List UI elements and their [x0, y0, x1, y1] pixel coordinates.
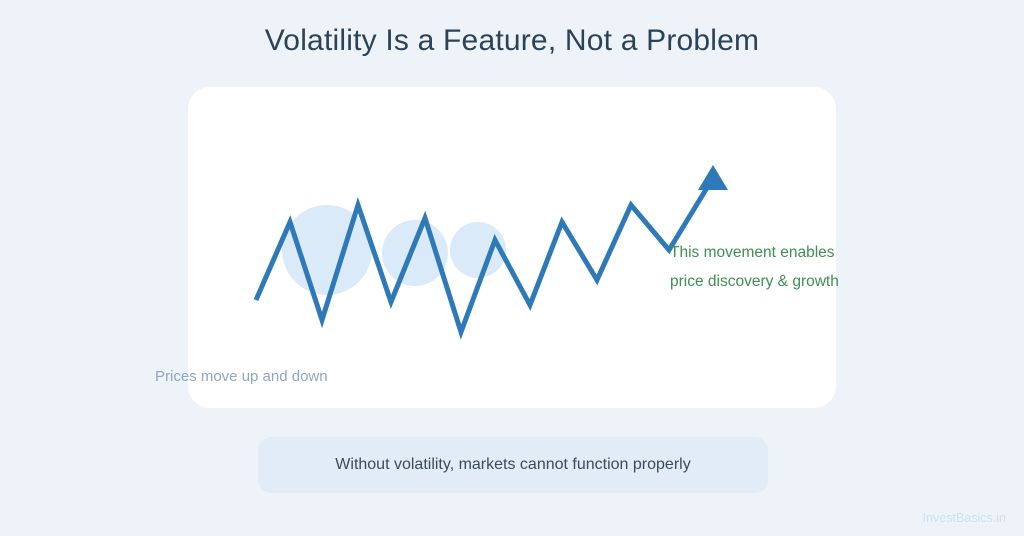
- footer-banner-text: Without volatility, markets cannot funct…: [335, 454, 690, 476]
- annotation-line-2: price discovery & growth: [670, 267, 839, 296]
- caption-prices-move: Prices move up and down: [155, 366, 328, 388]
- annotation-price-discovery: This movement enables price discovery & …: [670, 238, 839, 296]
- footer-banner: Without volatility, markets cannot funct…: [258, 437, 768, 493]
- page-title: Volatility Is a Feature, Not a Problem: [0, 22, 1024, 60]
- watermark: InvestBasics.in: [923, 510, 1006, 526]
- annotation-line-1: This movement enables: [670, 238, 839, 267]
- slide-canvas: Volatility Is a Feature, Not a Problem P…: [0, 0, 1024, 536]
